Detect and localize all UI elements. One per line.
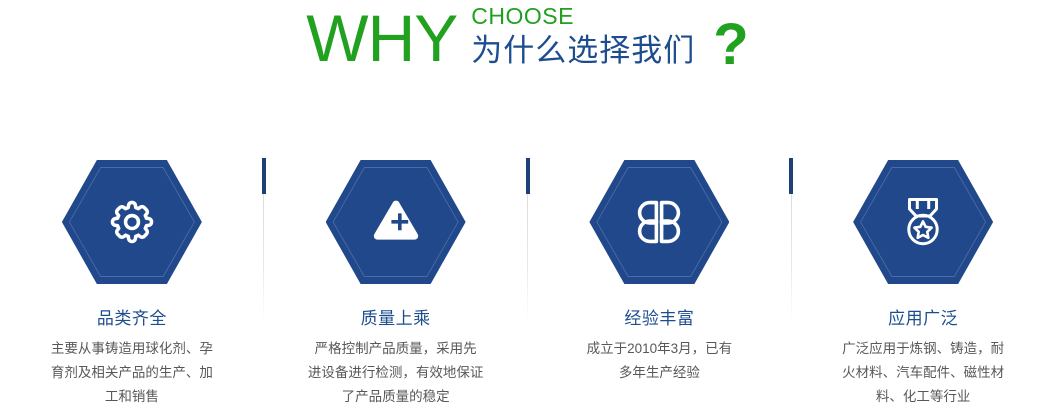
heading-inner: WHY CHOOSE 为什么选择我们 ? xyxy=(306,0,748,76)
triangle-plus-icon xyxy=(326,160,466,284)
hexagon-badge xyxy=(853,160,993,284)
card-description-line: 工和销售 xyxy=(51,385,213,409)
medal-icon xyxy=(853,160,993,284)
card-description-line: 严格控制产品质量，采用先 xyxy=(308,337,484,361)
card-description-line: 料、化工等行业 xyxy=(842,385,1004,409)
card-description: 成立于2010年3月，已有 多年生产经验 xyxy=(587,337,733,385)
heading-why-word: WHY xyxy=(306,2,457,74)
card-description: 广泛应用于炼钢、铸造，耐 火材料、汽车配件、磁性材 料、化工等行业 xyxy=(842,337,1004,409)
heading-choose-word: CHOOSE xyxy=(471,4,695,29)
card-title: 质量上乘 xyxy=(361,308,431,330)
card-description: 主要从事铸造用球化剂、孕 育剂及相关产品的生产、加 工和销售 xyxy=(51,337,213,409)
heading-text-stack: CHOOSE 为什么选择我们 xyxy=(471,4,695,70)
card-title: 品类齐全 xyxy=(97,308,167,330)
gear-icon xyxy=(62,160,202,284)
feature-card-experience[interactable]: 经验丰富 成立于2010年3月，已有 多年生产经验 xyxy=(528,150,792,416)
card-title: 经验丰富 xyxy=(624,308,694,330)
card-description-line: 火材料、汽车配件、磁性材 xyxy=(842,361,1004,385)
card-description-line: 多年生产经验 xyxy=(587,361,733,385)
card-description: 严格控制产品质量，采用先 进设备进行检测，有效地保证 了产品质量的稳定 xyxy=(308,337,484,409)
card-description-line: 育剂及相关产品的生产、加 xyxy=(51,361,213,385)
card-description-line: 主要从事铸造用球化剂、孕 xyxy=(51,337,213,361)
heading-chinese-title: 为什么选择我们 xyxy=(471,32,695,70)
hexagon-badge xyxy=(326,160,466,284)
feature-card-quality[interactable]: 质量上乘 严格控制产品质量，采用先 进设备进行检测，有效地保证 了产品质量的稳定 xyxy=(264,150,528,416)
card-description-line: 了产品质量的稳定 xyxy=(308,385,484,409)
feature-card-applications[interactable]: 应用广泛 广泛应用于炼钢、铸造，耐 火材料、汽车配件、磁性材 料、化工等行业 xyxy=(791,150,1055,416)
section-heading: WHY CHOOSE 为什么选择我们 ? xyxy=(0,0,1055,95)
clover-icon xyxy=(589,160,729,284)
hexagon-badge xyxy=(589,160,729,284)
why-choose-us-section: WHY CHOOSE 为什么选择我们 ? 品类齐全 xyxy=(0,0,1055,416)
card-description-line: 进设备进行检测，有效地保证 xyxy=(308,361,484,385)
card-title: 应用广泛 xyxy=(888,308,958,330)
card-description-line: 成立于2010年3月，已有 xyxy=(587,337,733,361)
question-mark-icon: ? xyxy=(713,14,748,76)
feature-card-row: 品类齐全 主要从事铸造用球化剂、孕 育剂及相关产品的生产、加 工和销售 xyxy=(0,150,1055,416)
feature-card-product-range[interactable]: 品类齐全 主要从事铸造用球化剂、孕 育剂及相关产品的生产、加 工和销售 xyxy=(0,150,264,416)
card-description-line: 广泛应用于炼钢、铸造，耐 xyxy=(842,337,1004,361)
hexagon-badge xyxy=(62,160,202,284)
